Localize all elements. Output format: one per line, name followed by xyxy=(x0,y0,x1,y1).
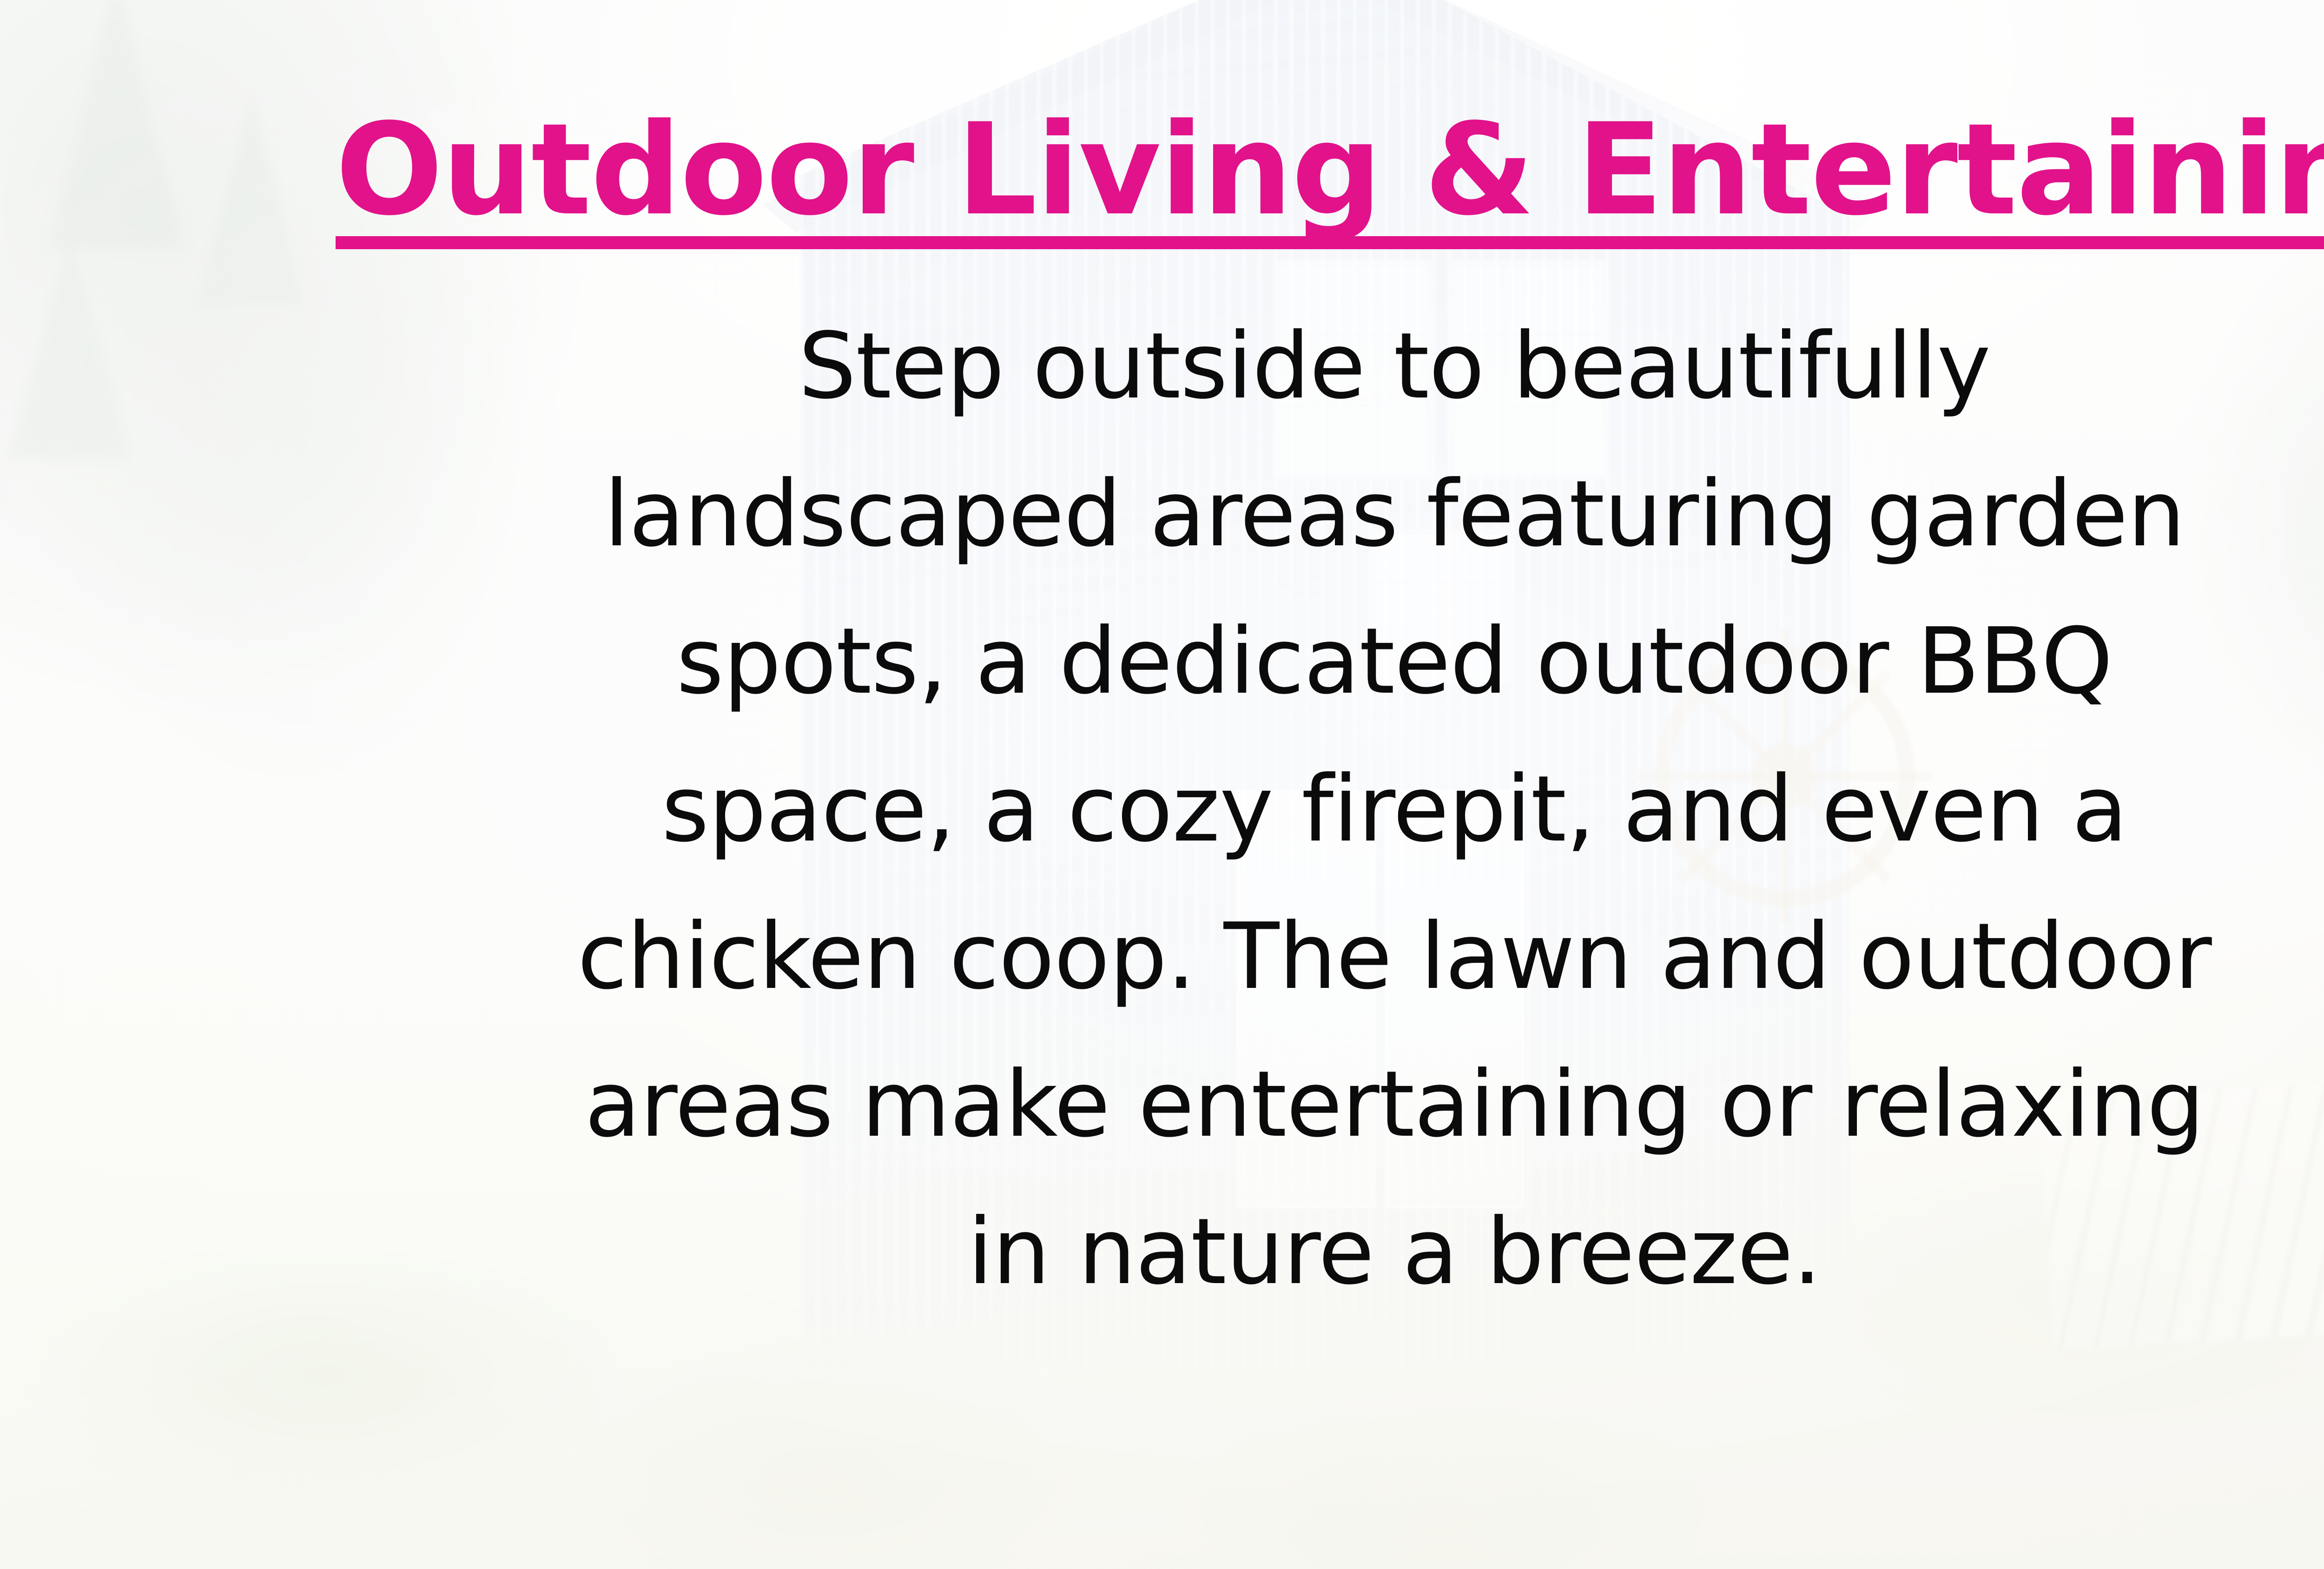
slide-title-underline xyxy=(336,236,2324,249)
body-line: Step outside to beautifully xyxy=(158,293,2324,441)
body-line: landscaped areas featuring garden xyxy=(158,441,2324,589)
body-line: space, a cozy firepit, and even a xyxy=(158,736,2324,884)
slide-body: Step outside to beautifully landscaped a… xyxy=(158,293,2324,1326)
body-line: spots, a dedicated outdoor BBQ xyxy=(158,588,2324,736)
body-line: chicken coop. The lawn and outdoor xyxy=(158,883,2324,1031)
body-line: areas make entertaining or relaxing xyxy=(158,1031,2324,1179)
slide-content: Outdoor Living & Entertaining Step outsi… xyxy=(0,0,2324,1569)
slide-title: Outdoor Living & Entertaining xyxy=(336,107,2324,249)
body-line: in nature a breeze. xyxy=(158,1178,2324,1326)
slide-canvas: Outdoor Living & Entertaining Step outsi… xyxy=(0,0,2324,1569)
slide-title-text: Outdoor Living & Entertaining xyxy=(336,97,2324,244)
